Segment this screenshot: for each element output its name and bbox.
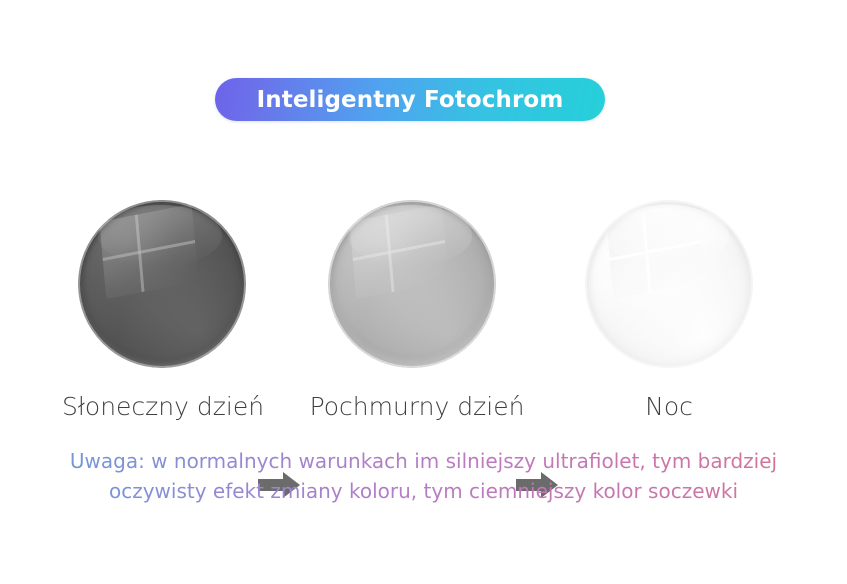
photochromic-lens-icon-night xyxy=(585,200,753,368)
caption-line-2: oczywisty efekt zmiany koloru, tym ciemn… xyxy=(0,476,847,506)
page-title: Inteligentny Fotochrom xyxy=(257,87,564,113)
lens-label-cloudy: Pochmurny dzień xyxy=(292,392,542,421)
title-badge: Inteligentny Fotochrom xyxy=(215,78,605,121)
photochromic-lens-icon-sunny xyxy=(78,200,246,368)
lens-label-night: Noc xyxy=(583,392,755,421)
lens-rim xyxy=(78,200,246,368)
condition-labels-row: Słoneczny dzień Pochmurny dzień Noc xyxy=(0,392,847,428)
lens-comparison-row xyxy=(0,200,847,375)
photochromic-lens-icon-cloudy xyxy=(328,200,496,368)
caption-line-1: Uwaga: w normalnych warunkach im silniej… xyxy=(0,446,847,476)
lens-rim xyxy=(328,200,496,368)
lens-rim xyxy=(585,200,753,368)
caption-note: Uwaga: w normalnych warunkach im silniej… xyxy=(0,446,847,506)
lens-label-sunny: Słoneczny dzień xyxy=(38,392,288,421)
